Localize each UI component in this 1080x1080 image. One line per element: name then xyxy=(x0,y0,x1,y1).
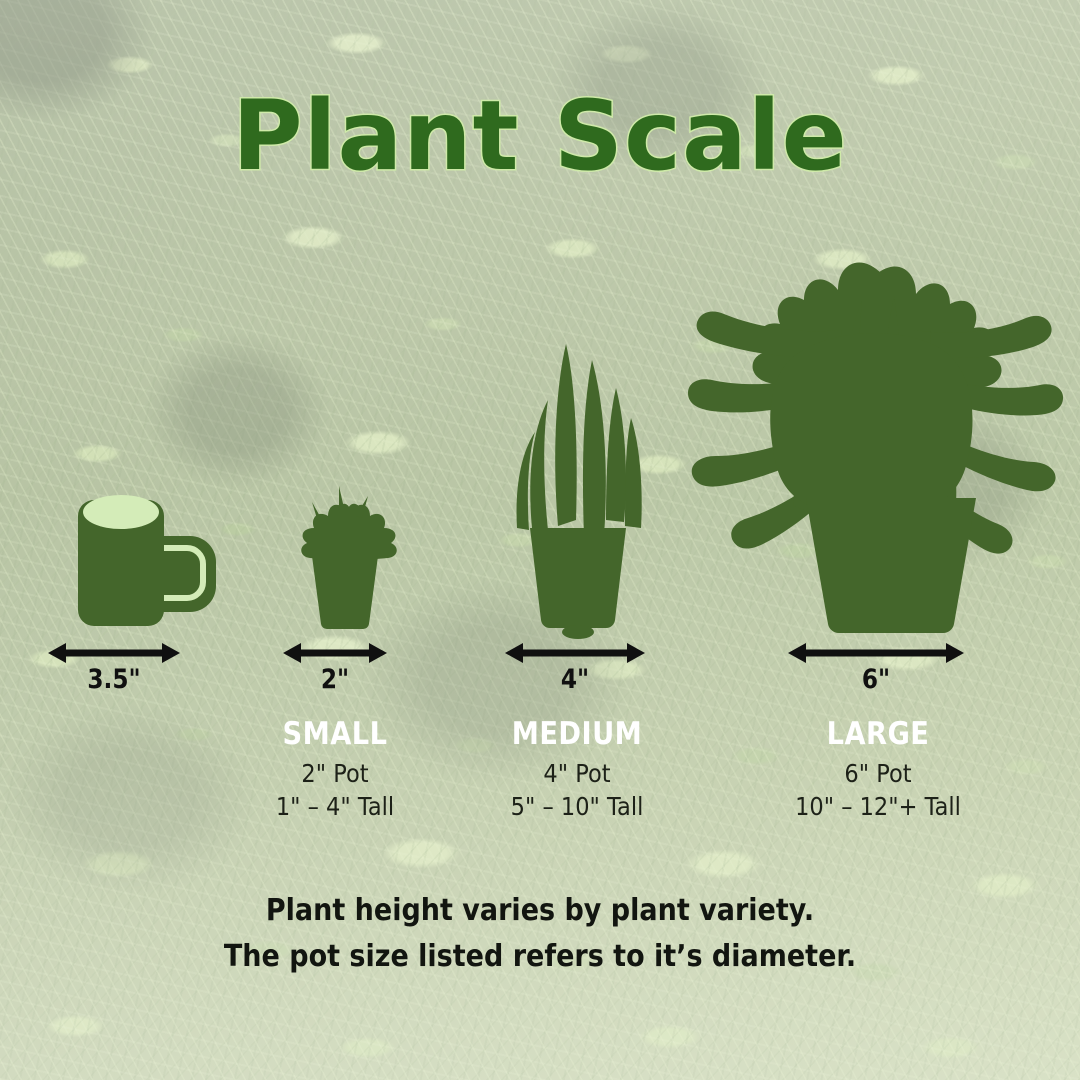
mug-width-arrow: 3.5" xyxy=(48,642,180,702)
category-medium-height: 5" – 10" Tall xyxy=(476,790,678,823)
category-small-pot: 2" Pot xyxy=(236,757,434,790)
footer-note-line2: The pot size listed refers to it’s diame… xyxy=(54,934,1026,980)
category-small-height: 1" – 4" Tall xyxy=(236,790,434,823)
medium-width-label: 4" xyxy=(515,664,635,695)
small-width-arrow: 2" xyxy=(283,642,387,702)
category-medium: MEDIUM 4" Pot 5" – 10" Tall xyxy=(465,718,689,823)
category-small-name: SMALL xyxy=(238,718,432,751)
medium-width-arrow: 4" xyxy=(505,642,645,702)
category-medium-pot: 4" Pot xyxy=(476,757,678,790)
footer-note: Plant height varies by plant variety. Th… xyxy=(0,888,1080,979)
silhouette-canvas xyxy=(0,0,1080,660)
double-arrow-icon xyxy=(788,642,964,664)
double-arrow-icon xyxy=(48,642,180,664)
silhouette-row xyxy=(0,0,1080,660)
snake-plant-icon xyxy=(517,344,642,639)
category-large-pot: 6" Pot xyxy=(772,757,984,790)
small-width-label: 2" xyxy=(290,664,379,695)
bird-nest-fern-icon xyxy=(688,263,1063,633)
category-large-height: 10" – 12"+ Tall xyxy=(772,790,984,823)
plant-scale-poster: Plant Scale xyxy=(0,0,1080,1080)
category-small: SMALL 2" Pot 1" – 4" Tall xyxy=(225,718,445,823)
coffee-mug-icon xyxy=(78,495,216,626)
footer-note-line1: Plant height varies by plant variety. xyxy=(54,888,1026,934)
small-plant-icon xyxy=(301,486,396,629)
category-large-name: LARGE xyxy=(774,718,982,751)
category-medium-name: MEDIUM xyxy=(478,718,675,751)
double-arrow-icon xyxy=(283,642,387,664)
double-arrow-icon xyxy=(505,642,645,664)
mug-width-label: 3.5" xyxy=(57,664,171,695)
category-large: LARGE 6" Pot 10" – 12"+ Tall xyxy=(760,718,996,823)
large-width-label: 6" xyxy=(800,664,951,695)
large-width-arrow: 6" xyxy=(788,642,964,702)
